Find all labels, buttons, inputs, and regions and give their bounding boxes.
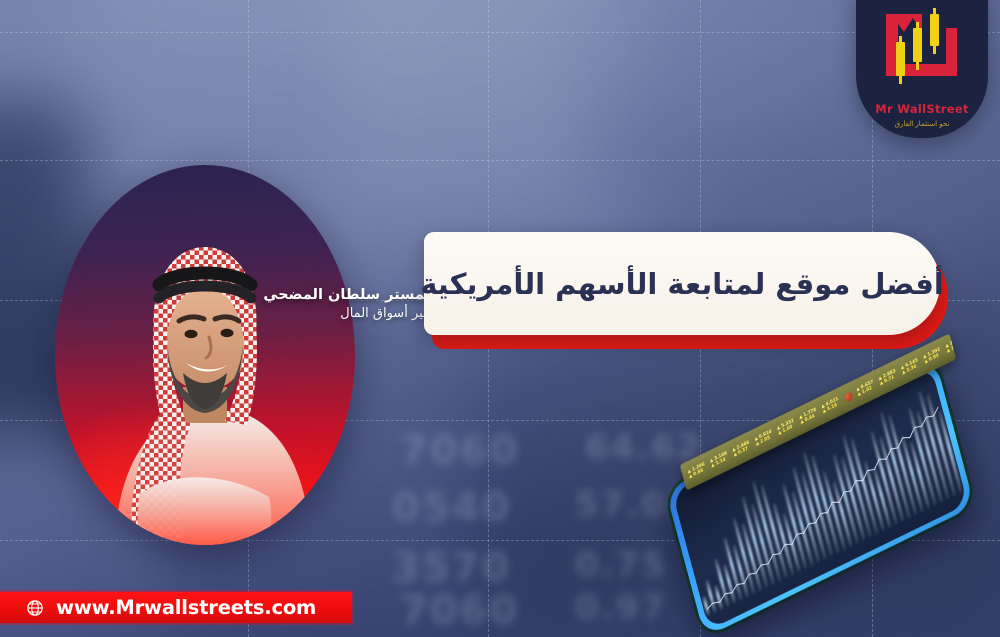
ticker-row: ▲ 0.914▲ 2.05 <box>754 429 774 447</box>
logo-wordmark: Mr WallStreet <box>856 102 988 116</box>
globe-icon <box>26 599 44 617</box>
ticker-row: ▲ 1.778▲ 0.44 <box>799 408 819 426</box>
background-number: 3570 <box>392 545 511 591</box>
background-number: 0540 <box>392 485 511 531</box>
website-url: www.Mrwallstreets.com <box>56 596 316 619</box>
smartphone-mockup: ▲ 1.206▲ 0.88▲ 3.108▲ 1.14▲ 2.446▲ 0.37▲… <box>640 375 990 615</box>
headline-plate: أفضل موقع لمتابعة الأسهم الأمريكية <box>424 232 940 335</box>
ticker-row: ▲ 2.446▲ 0.37 <box>732 440 752 458</box>
ticker-row: ▲ 1.206▲ 0.88 <box>687 462 707 480</box>
ticker-alert-dot <box>844 392 853 403</box>
ticker-row: ▲ 3.108▲ 1.14 <box>710 451 730 469</box>
background-number: 7060 <box>400 428 519 474</box>
promo-banner: 706064.62054057.0335700.7570600.97 <box>0 0 1000 637</box>
shield-candlestick-logo-icon <box>856 0 988 90</box>
logo-tagline: نحو استثمار الفارق <box>856 120 988 128</box>
speaker-portrait <box>55 165 355 545</box>
ticker-row: ▲ 6.145▲ 2.36 <box>900 358 920 376</box>
speaker-figure-illustration <box>55 165 355 545</box>
ticker-row: ▲ 4.021▲ 3.19 <box>821 397 841 415</box>
ticker-row: ▲ 2.883▲ 0.71 <box>878 369 898 387</box>
speaker-role: خبير أسواق المال <box>255 305 435 323</box>
brand-logo[interactable]: Mr WallStreet نحو استثمار الفارق <box>856 0 988 138</box>
ticker-row: ▲ 1.392▲ 0.95 <box>923 347 943 365</box>
website-url-bar[interactable]: www.Mrwallstreets.com <box>0 592 352 623</box>
ticker-row: ▲ 0.657▲ 1.02 <box>856 380 876 398</box>
ticker-row: ▲ 5.332▲ 1.60 <box>776 418 796 436</box>
background-number: 7060 <box>400 588 519 634</box>
page-title: أفضل موقع لمتابعة الأسهم الأمريكية <box>402 267 962 301</box>
